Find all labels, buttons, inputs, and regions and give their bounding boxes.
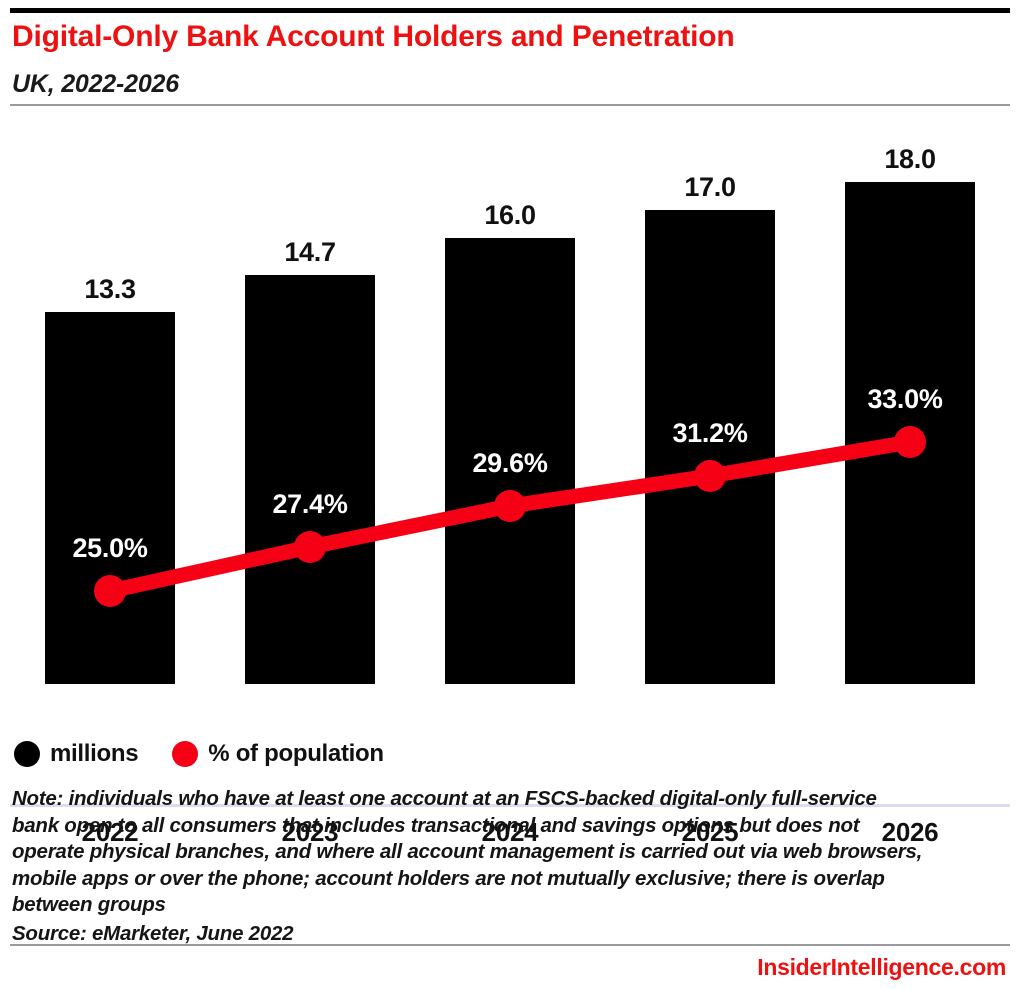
brand-link[interactable]: InsiderIntelligence.com — [757, 954, 1006, 981]
bar-2023 — [245, 275, 375, 684]
legend-label: % of population — [208, 740, 383, 768]
note-line-1: Note: individuals who have at least one … — [12, 786, 1002, 813]
line-value-label-2022: 25.0% — [25, 533, 195, 564]
line-value-label-2023: 27.4% — [225, 489, 395, 520]
line-value-label-2025: 31.2% — [625, 418, 795, 449]
circle-icon — [14, 741, 40, 767]
chart-page: Digital-Only Bank Account Holders and Pe… — [0, 0, 1020, 990]
bar-2026 — [845, 182, 975, 684]
top-divider — [10, 8, 1010, 13]
note-line-3: operate physical branches, and where all… — [12, 839, 1002, 866]
chart-subtitle: UK, 2022-2026 — [12, 70, 1002, 99]
bar-value-label-2022: 13.3 — [45, 274, 175, 305]
note-line-2: bank open to all consumers that includes… — [12, 813, 1002, 840]
legend-item-percent-of-population[interactable]: % of population — [172, 740, 383, 768]
note-line-5: between groups — [12, 892, 1002, 919]
bar-value-label-2026: 18.0 — [845, 144, 975, 175]
bar-value-label-2024: 16.0 — [445, 200, 575, 231]
bar-2022 — [45, 312, 175, 684]
chart-legend: millions% of population — [14, 740, 384, 768]
chart-notes: Note: individuals who have at least one … — [12, 786, 1002, 947]
chart-plot-area: 13.314.716.017.018.0 25.0%27.4%29.6%31.2… — [0, 120, 1020, 690]
header-divider — [10, 104, 1010, 106]
bar-value-label-2023: 14.7 — [245, 237, 375, 268]
line-value-label-2026: 33.0% — [820, 384, 990, 415]
legend-label: millions — [50, 740, 138, 768]
legend-item-millions[interactable]: millions — [14, 740, 138, 768]
note-text: Note: individuals who have at least one … — [12, 786, 1002, 919]
note-line-4: mobile apps or over the phone; account h… — [12, 866, 1002, 893]
footer-divider — [10, 944, 1010, 946]
page-title: Digital-Only Bank Account Holders and Pe… — [12, 20, 1002, 54]
bar-value-label-2025: 17.0 — [645, 172, 775, 203]
circle-icon — [172, 741, 198, 767]
line-value-label-2024: 29.6% — [425, 448, 595, 479]
